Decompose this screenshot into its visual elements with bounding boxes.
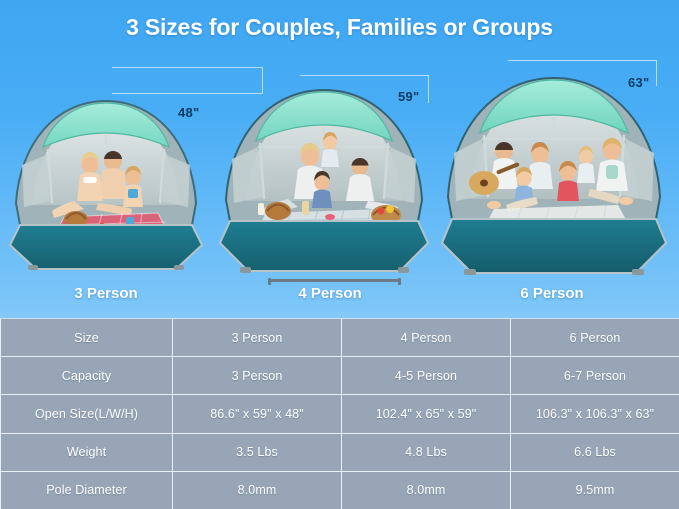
- table-row: Weight 3.5 Lbs 4.8 Lbs 6.6 Lbs: [1, 433, 679, 471]
- guide-line-top-right: [508, 60, 656, 61]
- dimension-label-6-person: 63": [628, 75, 650, 90]
- table-row: Open Size(L/W/H) 86.6" x 59" x 48" 102.4…: [1, 395, 679, 433]
- row-value: 6.6 Lbs: [511, 433, 679, 471]
- table-row: Pole Diameter 8.0mm 8.0mm 9.5mm: [1, 471, 679, 509]
- row-value: 86.6" x 59" x 48": [173, 395, 342, 433]
- spec-table-body: Size 3 Person 4 Person 6 Person Capacity…: [1, 319, 679, 509]
- row-label: Open Size(L/W/H): [1, 395, 173, 433]
- table-row: Capacity 3 Person 4-5 Person 6-7 Person: [1, 357, 679, 395]
- row-value: 6 Person: [511, 319, 679, 357]
- spec-table: Size 3 Person 4 Person 6 Person Capacity…: [0, 318, 679, 509]
- tent-caption-6-person: 6 Person: [462, 285, 642, 302]
- dimension-label-4-person: 59": [398, 89, 420, 104]
- row-value: 4 Person: [342, 319, 511, 357]
- row-value: 8.0mm: [173, 471, 342, 509]
- row-value: 9.5mm: [511, 471, 679, 509]
- row-value: 102.4" x 65" x 59": [342, 395, 511, 433]
- guide-line-mid-center: [300, 75, 428, 76]
- row-value: 3 Person: [173, 319, 342, 357]
- tent-illustration-6-person: [440, 73, 668, 285]
- row-value: 8.0mm: [342, 471, 511, 509]
- guide-line-top-left: [112, 67, 262, 68]
- row-value: 4-5 Person: [342, 357, 511, 395]
- tent-illustration-3-person: [6, 95, 206, 280]
- row-label: Capacity: [1, 357, 173, 395]
- row-value: 4.8 Lbs: [342, 433, 511, 471]
- dimension-label-3-person: 48": [178, 105, 200, 120]
- row-value: 3.5 Lbs: [173, 433, 342, 471]
- row-value: 3 Person: [173, 357, 342, 395]
- page-title: 3 Sizes for Couples, Families or Groups: [0, 14, 679, 41]
- row-value: 106.3" x 106.3" x 63": [511, 395, 679, 433]
- table-row: Size 3 Person 4 Person 6 Person: [1, 319, 679, 357]
- row-label: Weight: [1, 433, 173, 471]
- infographic-page: 3 Sizes for Couples, Families or Groups: [0, 0, 679, 509]
- tent-comparison-area: 48" 59" 63" 3 Person 4 Person 6 Person: [0, 55, 679, 318]
- tent-illustration-4-person: [218, 85, 430, 282]
- tent-caption-3-person: 3 Person: [16, 285, 196, 302]
- tent-caption-4-person: 4 Person: [240, 285, 420, 302]
- row-label: Size: [1, 319, 173, 357]
- page-title-text: 3 Sizes for Couples, Families or Groups: [126, 14, 553, 41]
- row-label: Pole Diameter: [1, 471, 173, 509]
- row-value: 6-7 Person: [511, 357, 679, 395]
